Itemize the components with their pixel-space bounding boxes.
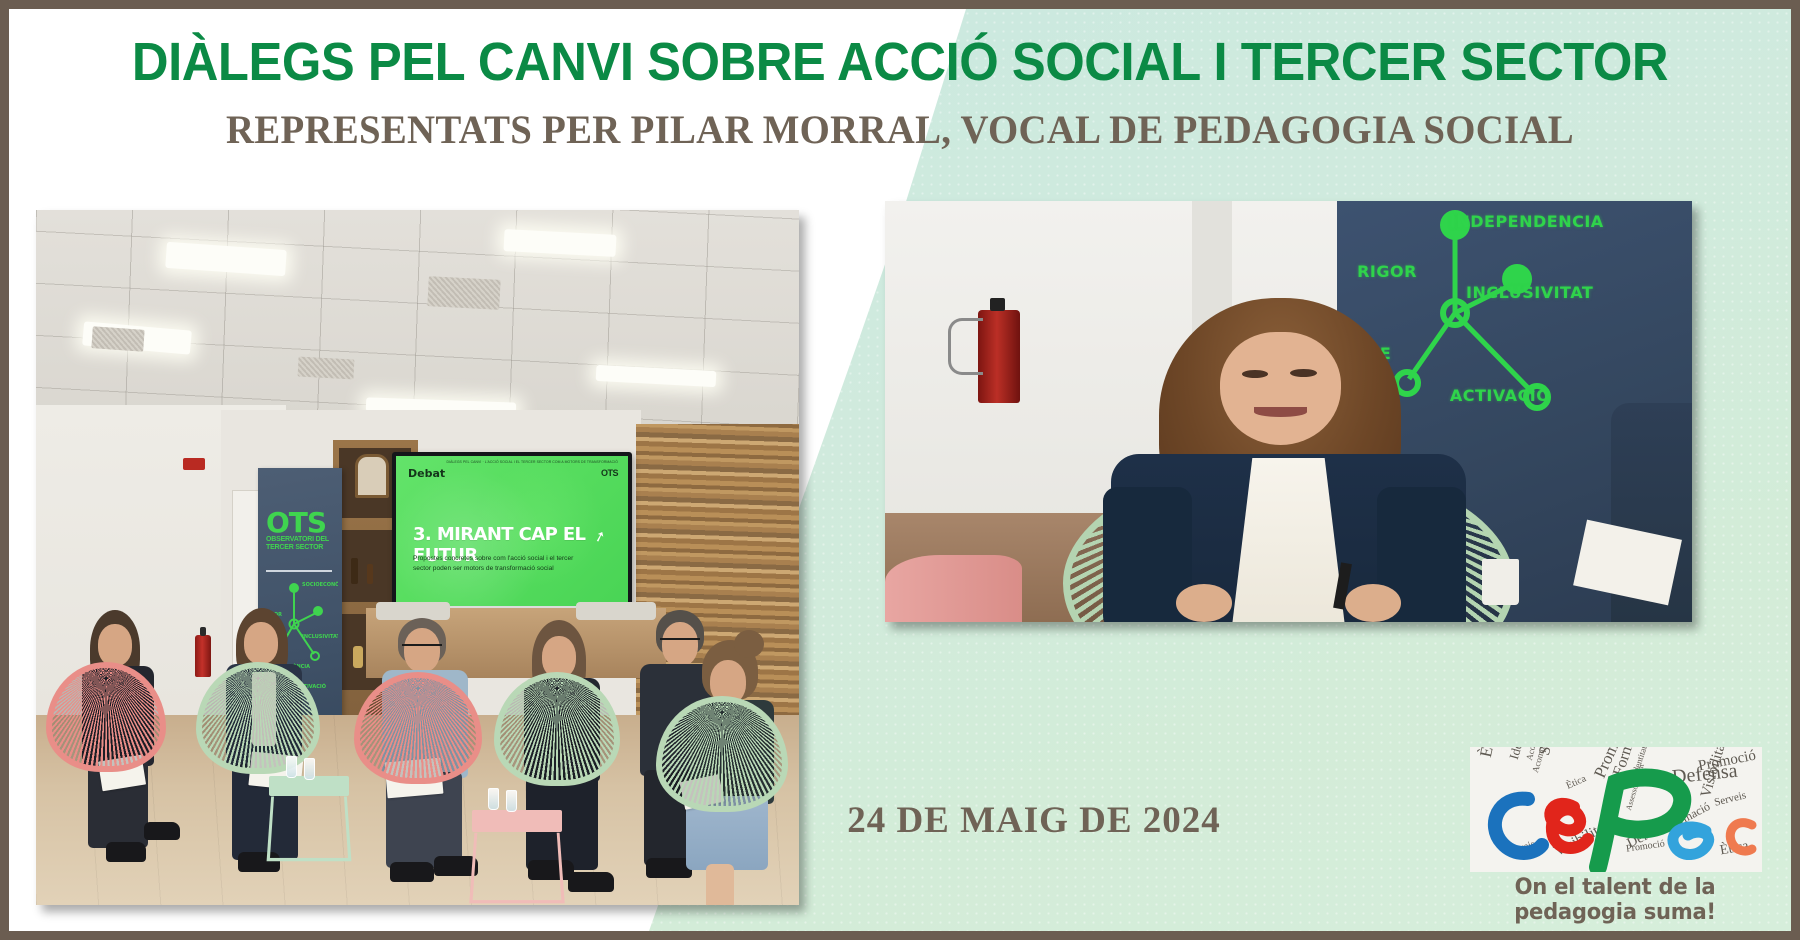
copec-lettermark	[1470, 747, 1762, 872]
photo-panel-discussion: OTS OBSERVATORI DEL TERCER SECTOR SOCIO	[36, 210, 799, 905]
hand-right	[1345, 584, 1401, 622]
logo-tagline: On el talent de la pedagogia suma!	[1462, 875, 1767, 925]
water-glass	[506, 790, 517, 812]
screen-slide: DIÀLEGS PEL CANVI · L'ACCIÓ SOCIAL I EL …	[396, 456, 628, 606]
ots-logo-text: OTS	[266, 506, 334, 539]
ots-subtitle-text: OBSERVATORI DEL TERCER SECTOR	[266, 536, 332, 552]
slide-label-debat: Debat	[408, 467, 445, 480]
poster-root: DIÀLEGS PEL CANVI SOBRE ACCIÓ SOCIAL I T…	[0, 0, 1800, 940]
portrait-scene: INDEPENDENCIA RIGOR INCLUSIVITAT ISME AC…	[885, 201, 1692, 622]
shelf-trophy	[353, 646, 363, 668]
slide-brand-ots: OTS	[601, 468, 618, 478]
bare-leg	[706, 864, 734, 905]
ots-divider	[266, 570, 332, 572]
fire-extinguisher	[195, 635, 211, 677]
shelf-bottle	[367, 564, 373, 584]
shoe	[144, 822, 180, 840]
poster-canvas: DIÀLEGS PEL CANVI SOBRE ACCIÓ SOCIAL I T…	[9, 9, 1791, 931]
event-date: 24 DE MAIG DE 2024	[804, 799, 1264, 842]
shoe	[390, 862, 434, 882]
eye-right	[1290, 369, 1317, 377]
water-glass	[286, 756, 297, 778]
ceiling-vent	[298, 357, 355, 380]
paper-cup	[1482, 559, 1519, 605]
glasses-icon	[402, 644, 442, 651]
presentation-screen: DIÀLEGS PEL CANVI · L'ACCIÓ SOCIAL I EL …	[392, 452, 632, 616]
shoe	[106, 842, 146, 862]
person-pilar-morral	[885, 201, 1692, 622]
slide-tiny-header: DIÀLEGS PEL CANVI · L'ACCIÓ SOCIAL I EL …	[447, 460, 618, 464]
svg-text:SOCIOECONÒMICA: SOCIOECONÒMICA	[302, 581, 338, 588]
page-title: DIÀLEGS PEL CANVI SOBRE ACCIÓ SOCIAL I T…	[62, 31, 1737, 93]
face	[1220, 332, 1341, 446]
hair-bun	[734, 630, 764, 658]
slide-body-text: Propostes concretes sobre com l'acció so…	[413, 554, 593, 574]
water-glass	[304, 758, 315, 780]
side-table-pink-legs	[469, 833, 564, 904]
head	[244, 622, 278, 664]
shelf-bottle	[351, 558, 358, 584]
side-table-mint-legs	[267, 796, 352, 861]
ceiling-vent	[91, 326, 144, 352]
shelf-mirror	[355, 454, 389, 498]
photo-pilar-morral: INDEPENDENCIA RIGOR INCLUSIVITAT ISME AC…	[885, 201, 1692, 622]
shoe	[568, 872, 614, 892]
ceiling-vent	[427, 276, 500, 310]
page-subtitle: REPRESENTATS PER PILAR MORRAL, VOCAL DE …	[36, 106, 1765, 153]
side-table-pink	[472, 810, 562, 832]
eye-left	[1242, 370, 1269, 378]
head	[98, 624, 132, 666]
hand-left	[1176, 584, 1232, 622]
room-scene: OTS OBSERVATORI DEL TERCER SECTOR SOCIO	[36, 210, 799, 905]
water-glass	[488, 788, 499, 810]
copec-logo: Ètica Serveis Identitat Acompanyament Pr…	[1456, 744, 1774, 912]
exit-sign	[183, 458, 205, 470]
mouth	[1254, 407, 1307, 417]
